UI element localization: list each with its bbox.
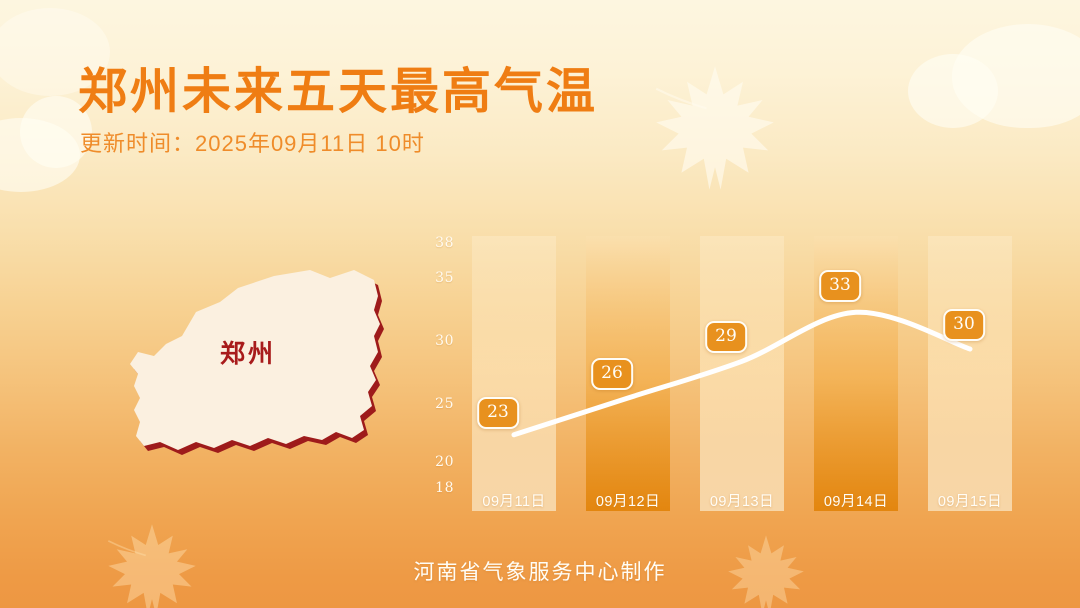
temperature-line <box>457 236 1027 511</box>
zhengzhou-map: 郑州 <box>78 240 418 502</box>
y-axis-tick: 38 <box>435 235 454 251</box>
data-label-badge: 23 <box>477 397 519 429</box>
data-label-badge: 33 <box>819 270 861 302</box>
update-time-label: 更新时间：2025年09月11日 10时 <box>80 126 425 158</box>
map-shape-icon <box>78 240 418 502</box>
x-axis: 09月11日 09月12日 09月13日 09月14日 09月15日 <box>457 490 1027 511</box>
y-axis-tick: 20 <box>435 454 454 470</box>
temperature-chart: 38 35 30 25 20 18 23 26 29 33 30 09月11日 … <box>420 228 1040 518</box>
chart-plot-area: 23 26 29 33 30 <box>457 236 1027 511</box>
y-axis-tick: 30 <box>435 333 454 349</box>
x-axis-tick: 09月14日 <box>799 490 913 511</box>
y-axis: 38 35 30 25 20 18 <box>420 228 458 511</box>
data-label-badge: 29 <box>705 321 747 353</box>
page-title: 郑州未来五天最高气温 <box>78 52 598 123</box>
maple-leaf-icon <box>640 58 790 198</box>
x-axis-tick: 09月15日 <box>913 490 1027 511</box>
x-axis-tick: 09月11日 <box>457 490 571 511</box>
y-axis-tick: 18 <box>435 480 454 496</box>
x-axis-tick: 09月13日 <box>685 490 799 511</box>
cloud-icon <box>952 24 1080 128</box>
data-label-badge: 30 <box>943 309 985 341</box>
y-axis-tick: 35 <box>435 270 454 286</box>
poster-stage: 郑州未来五天最高气温 更新时间：2025年09月11日 10时 郑州 38 35… <box>0 0 1080 608</box>
y-axis-tick: 25 <box>435 396 454 412</box>
footer-credit: 河南省气象服务中心制作 <box>0 556 1080 586</box>
data-label-badge: 26 <box>591 358 633 390</box>
x-axis-tick: 09月12日 <box>571 490 685 511</box>
cloud-icon <box>0 118 80 192</box>
